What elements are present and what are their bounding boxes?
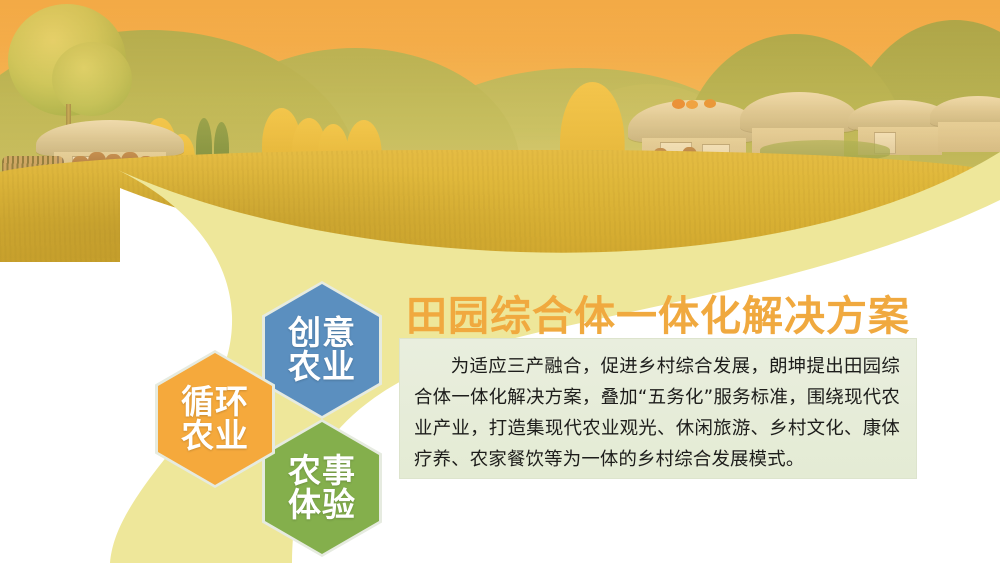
page-title: 田园综合体一体化解决方案	[406, 282, 910, 342]
hexagon-label-creative-agriculture: 创意 农业	[288, 316, 356, 383]
hexagon-label-circular-agriculture: 循环 农业	[181, 385, 249, 452]
description-panel: 为适应三产融合，促进乡村综合发展，朗坤提出田园综合体一体化解决方案，叠加“五务化…	[399, 338, 917, 479]
banner-stage: 创意 农业 农事 体验 循环 农业 田园综合体一体化解决方案 为适应三产融合，促…	[0, 0, 1000, 563]
description-paragraph: 为适应三产融合，促进乡村综合发展，朗坤提出田园综合体一体化解决方案，叠加“五务化…	[400, 339, 916, 475]
hexagon-label-farming-experience: 农事 体验	[288, 454, 356, 521]
